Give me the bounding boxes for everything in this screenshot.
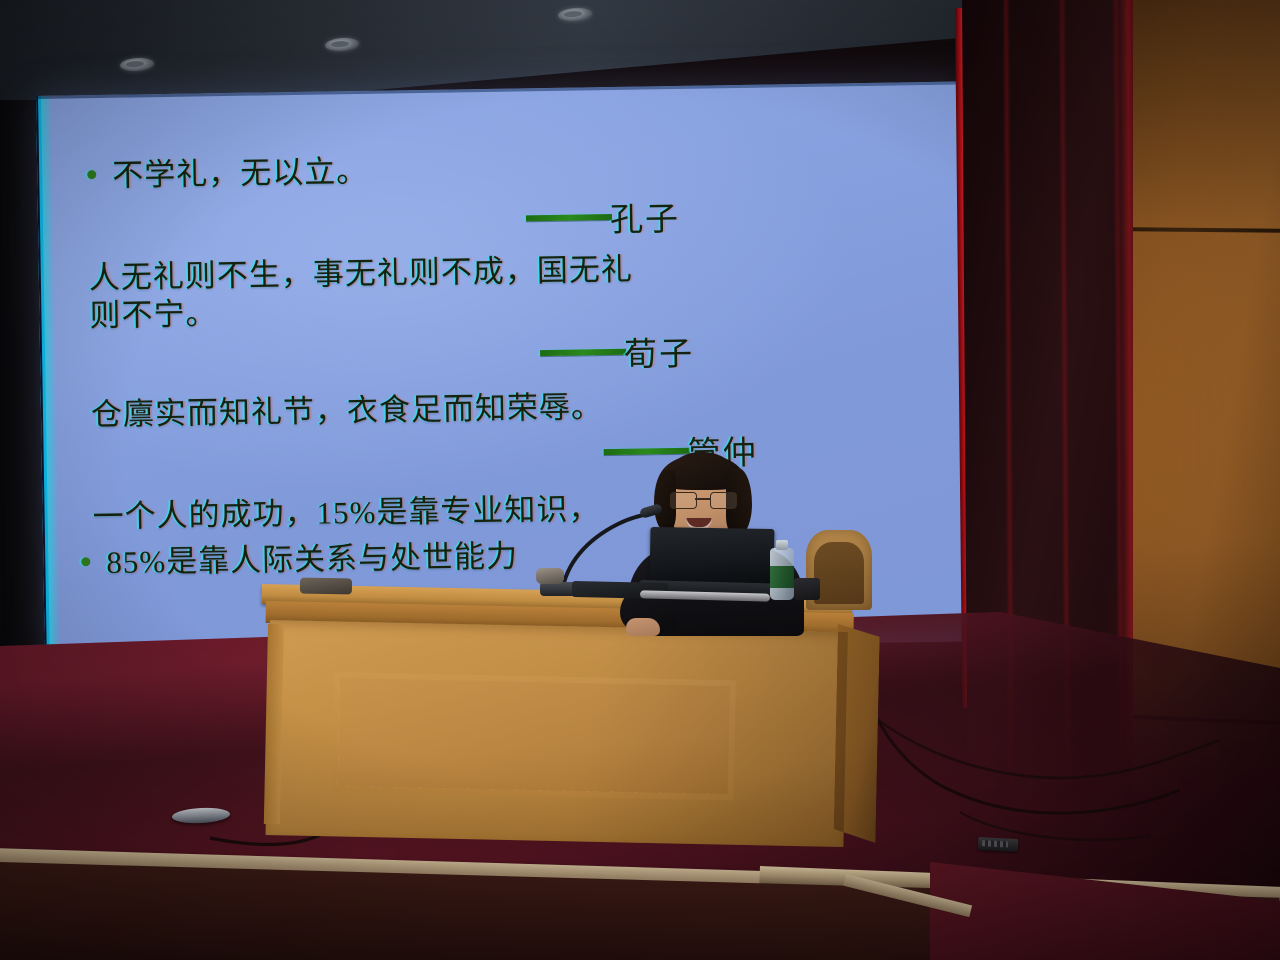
- slide-line-bullet-1: 不学礼，无以立。: [87, 144, 931, 195]
- hand: [626, 618, 660, 636]
- water-bottle[interactable]: [770, 538, 794, 600]
- chair-inner-back: [814, 542, 864, 604]
- attribution-name: 孔子: [610, 192, 681, 241]
- desk-item: [536, 568, 564, 584]
- slide-line-text: 不学礼，无以立。: [112, 153, 369, 195]
- slide-line-text: 则不宁。: [89, 295, 218, 335]
- slide-line-5: 一个人的成功，15%是靠专业知识，: [92, 485, 936, 536]
- em-dash-icon: [540, 349, 626, 356]
- bullet-icon: [87, 170, 96, 179]
- slide-attribution-1: 孔子: [76, 188, 933, 249]
- glasses-icon: [670, 492, 738, 508]
- slide-line-text: 一个人的成功，15%是靠专业知识，: [92, 490, 600, 536]
- bottle-label: [770, 566, 794, 588]
- attribution-name: 荀子: [624, 327, 695, 376]
- bullet-icon: [81, 557, 90, 566]
- desk-shading: [265, 620, 847, 847]
- desk-item: [300, 578, 352, 595]
- power-strip: [978, 837, 1019, 852]
- lecture-hall-scene: 不学礼，无以立。 孔子 人无礼则不生，事无礼则不成，国无礼 则不宁。 荀子: [0, 0, 1280, 960]
- em-dash-icon: [526, 214, 612, 221]
- slide-line-text: 仓廪实而知礼节，衣食足而知荣辱。: [91, 389, 604, 435]
- cup[interactable]: [794, 578, 820, 600]
- bottle-cap: [776, 540, 788, 550]
- laptop[interactable]: [650, 527, 775, 585]
- floor-cable: [820, 600, 1250, 900]
